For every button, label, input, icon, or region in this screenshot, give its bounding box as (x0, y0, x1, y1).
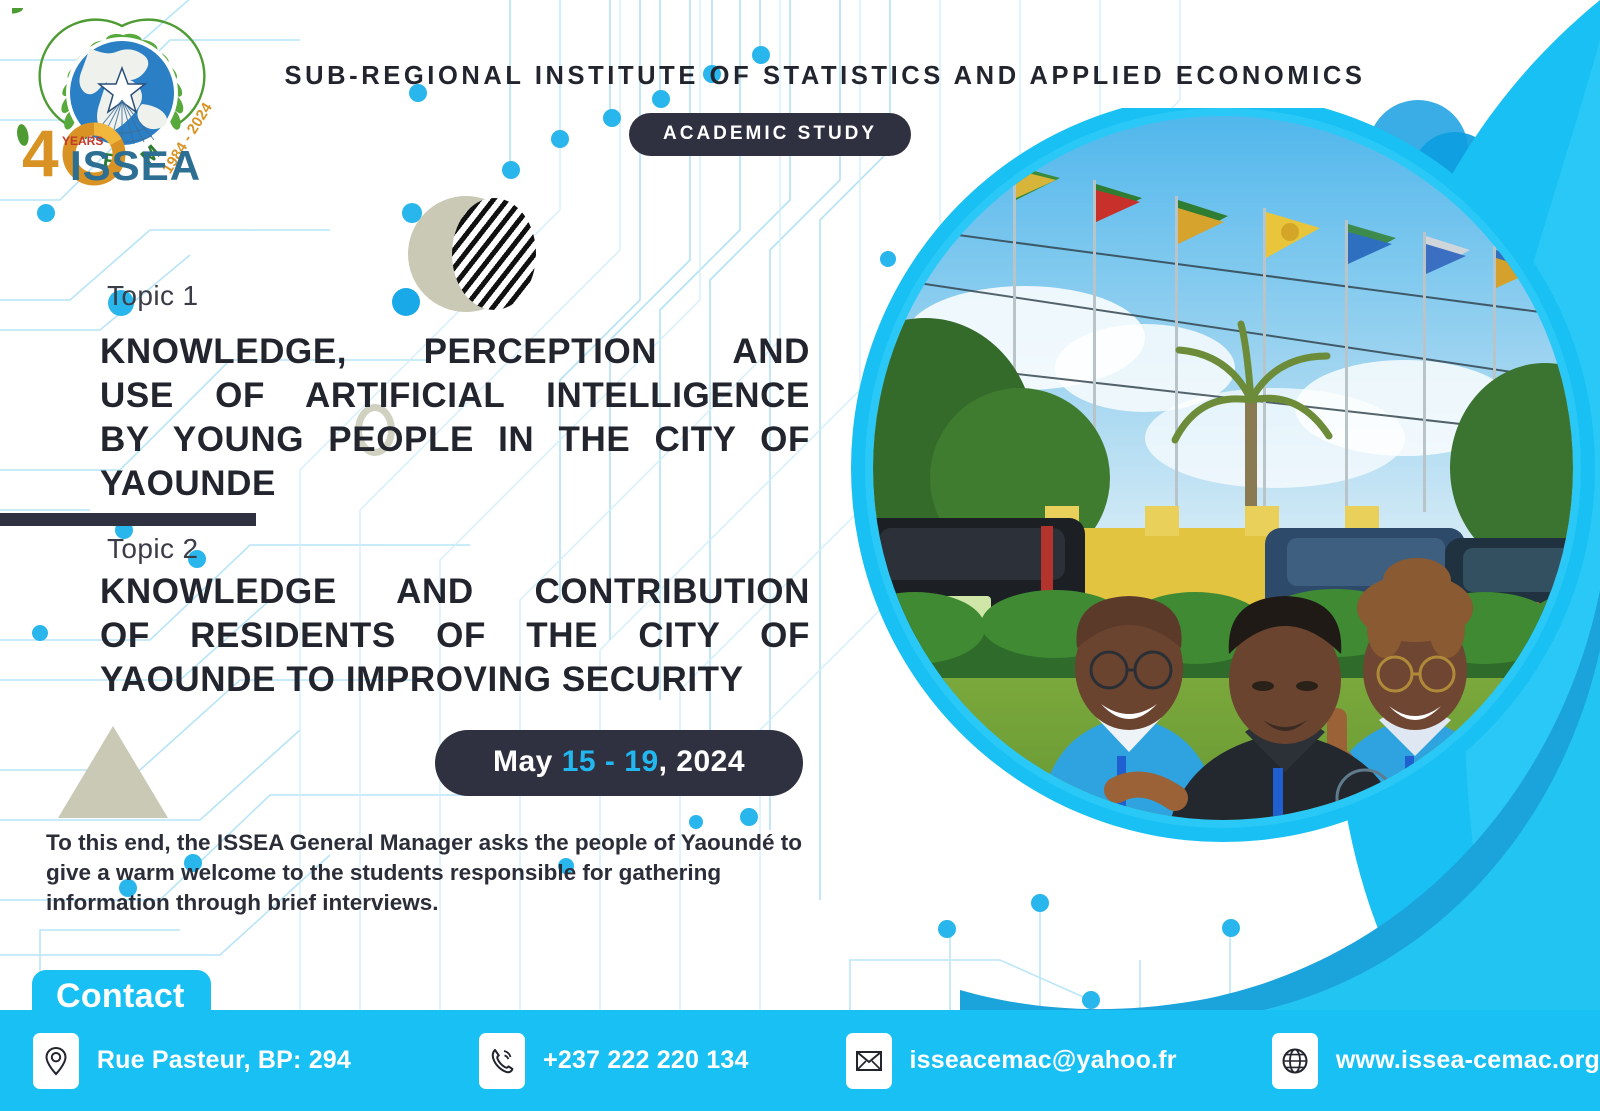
issea-cemac-logo: C E M A C 4 YEARS 1984 - 2024 ISSEA (12, 8, 224, 186)
date-separator: - (605, 745, 616, 778)
topic-2-line-3: YAOUNDE TO IMPROVING SECURITY (100, 658, 810, 702)
poster: C E M A C 4 YEARS 1984 - 2024 ISSEA SUB-… (0, 0, 1600, 1111)
date-suffix: , 2024 (659, 745, 745, 778)
topic-2-label: Topic 2 (107, 533, 199, 565)
logo-issea-text: ISSEA (70, 142, 201, 186)
topic-1-line-3: BY YOUNG PEOPLE IN THE CITY OF (100, 418, 810, 462)
topic-2-line-2: OF RESIDENTS OF THE CITY OF (100, 614, 810, 658)
striped-circle-decor (452, 198, 536, 310)
topic-1-heading: KNOWLEDGE, PERCEPTION AND USE OF ARTIFIC… (100, 330, 810, 506)
bottom-right-swoosh-decor (960, 560, 1600, 1020)
beige-triangle-decor (58, 726, 168, 818)
contact-address-value: Rue Pasteur, BP: 294 (97, 1046, 351, 1075)
globe-icon (1272, 1033, 1318, 1089)
date-prefix: May (493, 745, 553, 778)
contact-item-phone[interactable]: +237 222 220 134 (479, 1033, 748, 1089)
topic-1-label: Topic 1 (107, 280, 199, 312)
contact-item-address[interactable]: Rue Pasteur, BP: 294 (33, 1033, 351, 1089)
contact-items: Rue Pasteur, BP: 294 +237 222 220 134 is… (0, 1010, 1600, 1111)
contact-email-value: isseacemac@yahoo.fr (910, 1046, 1177, 1075)
topic-1-line-4: YAOUNDE (100, 462, 810, 506)
phone-icon (479, 1033, 525, 1089)
topic-2-line-1: KNOWLEDGE AND CONTRIBUTION (100, 570, 810, 614)
location-pin-icon (33, 1033, 79, 1089)
cyan-dot-decor (392, 288, 420, 316)
contact-item-email[interactable]: isseacemac@yahoo.fr (846, 1033, 1177, 1089)
svg-text:4: 4 (22, 116, 59, 186)
topic-1-line-1: KNOWLEDGE, PERCEPTION AND (100, 330, 810, 374)
status-badge: ACADEMIC STUDY (629, 113, 911, 156)
section-divider (0, 513, 256, 526)
contact-phone-value: +237 222 220 134 (543, 1046, 748, 1075)
announcement-text: To this end, the ISSEA General Manager a… (46, 828, 821, 918)
event-date-badge: May 15 - 19, 2024 (435, 730, 803, 796)
date-end-day: 19 (624, 745, 658, 778)
topic-2-heading: KNOWLEDGE AND CONTRIBUTION OF RESIDENTS … (100, 570, 810, 702)
date-start-day: 15 (562, 745, 596, 778)
contact-website-value: www.issea-cemac.org (1336, 1046, 1600, 1075)
page-title: SUB-REGIONAL INSTITUTE OF STATISTICS AND… (280, 62, 1370, 91)
contact-item-website[interactable]: www.issea-cemac.org (1272, 1033, 1600, 1089)
topic-1-line-2: USE OF ARTIFICIAL INTELLIGENCE (100, 374, 810, 418)
envelope-icon (846, 1033, 892, 1089)
